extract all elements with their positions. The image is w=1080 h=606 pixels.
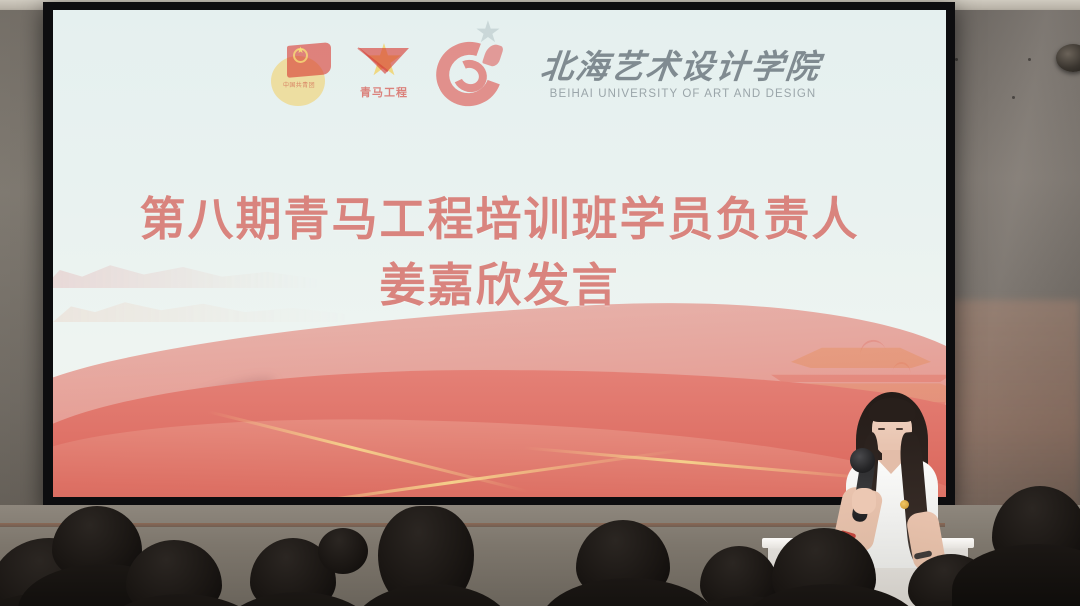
audience-shoulders	[540, 578, 718, 606]
wall-mark	[955, 58, 958, 61]
league-emblem-label: 中国共青团	[277, 80, 321, 89]
audience-shoulders	[218, 592, 378, 606]
audience-shoulders	[952, 544, 1080, 606]
university-name-cn: 北海艺术设计学院	[518, 40, 843, 88]
wall-mark	[1028, 58, 1031, 61]
slide-title-line-1: 第八期青马工程培训班学员负责人	[53, 186, 946, 252]
beihai-university-spiral-logo-icon	[429, 38, 515, 110]
university-name-en: BEIHAI UNIVERSITY OF ART AND DESIGN	[513, 88, 853, 100]
qingma-project-label: 青马工程	[341, 84, 427, 100]
qingma-project-logo-icon: ★ 青马工程	[341, 40, 427, 108]
wall-mark	[1012, 96, 1015, 99]
audience-silhouettes	[0, 480, 1080, 606]
lecture-hall-scene: ★	[0, 0, 1080, 606]
slide-title: 第八期青马工程培训班学员负责人 姜嘉欣发言	[53, 186, 946, 318]
audience-head	[318, 528, 368, 574]
projection-screen: ★	[53, 10, 946, 497]
slide-logo-header: 中国共青团 ★ 青马工程 北海艺术设计学院 BEIHAI UNIVERSITY …	[213, 34, 833, 114]
slide-title-line-2: 姜嘉欣发言	[53, 252, 946, 318]
communist-youth-league-emblem-icon: 中国共青团	[269, 42, 337, 106]
audience-shoulders	[352, 584, 512, 606]
